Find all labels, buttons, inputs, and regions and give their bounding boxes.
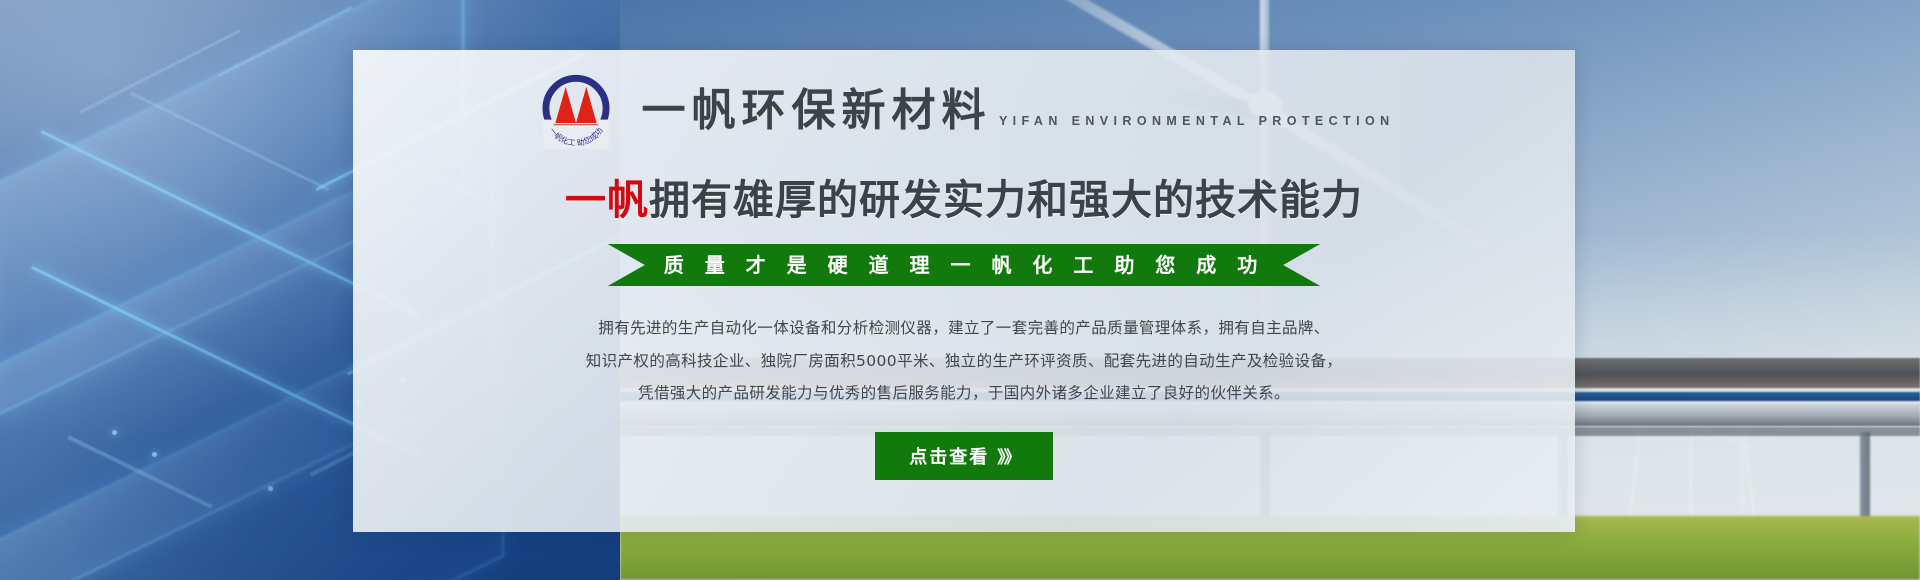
yifan-sail-circle-logo-icon: 一帆化工 助您成功 [533, 68, 619, 154]
double-chevron-right-icon: 》》 [997, 448, 1019, 468]
headline: 一帆拥有雄厚的研发实力和强大的技术能力 [353, 166, 1575, 226]
description-paragraph: 拥有先进的生产自动化一体设备和分析检测仪器，建立了一套完善的产品质量管理体系，拥… [464, 312, 1464, 410]
description-line-1: 拥有先进的生产自动化一体设备和分析检测仪器，建立了一套完善的产品质量管理体系，拥… [464, 312, 1464, 345]
headline-rest: 拥有雄厚的研发实力和强大的技术能力 [649, 176, 1363, 224]
slogan-ribbon-wrap: 质 量 才 是 硬 道 理 一 帆 化 工 助 您 成 功 [353, 244, 1575, 286]
description-line-2: 知识产权的高科技企业、独院厂房面积5000平米、独立的生产环评资质、配套先进的自… [464, 345, 1464, 378]
slogan-ribbon: 质 量 才 是 硬 道 理 一 帆 化 工 助 您 成 功 [608, 244, 1320, 286]
cta-label: 点击查看 [909, 447, 989, 468]
hero-banner: 一帆化工 助您成功 一帆环保新材料 YIFAN ENVIRONMENTAL PR… [0, 0, 1920, 580]
brand-lockup: 一帆化工 助您成功 一帆环保新材料 YIFAN ENVIRONMENTAL PR… [353, 50, 1575, 154]
cta-wrap: 点击查看》》 [353, 432, 1575, 480]
content-card: 一帆化工 助您成功 一帆环保新材料 YIFAN ENVIRONMENTAL PR… [353, 50, 1575, 532]
brand-name-en: YIFAN ENVIRONMENTAL PROTECTION [996, 114, 1395, 128]
view-details-button[interactable]: 点击查看》》 [875, 432, 1053, 480]
brand-text-block: 一帆环保新材料 YIFAN ENVIRONMENTAL PROTECTION [641, 87, 1394, 135]
brand-name-cn: 一帆环保新材料 [641, 85, 991, 136]
headline-accent: 一帆 [565, 176, 649, 224]
description-line-3: 凭借强大的产品研发能力与优秀的售后服务能力，于国内外诸多企业建立了良好的伙伴关系… [464, 377, 1464, 410]
